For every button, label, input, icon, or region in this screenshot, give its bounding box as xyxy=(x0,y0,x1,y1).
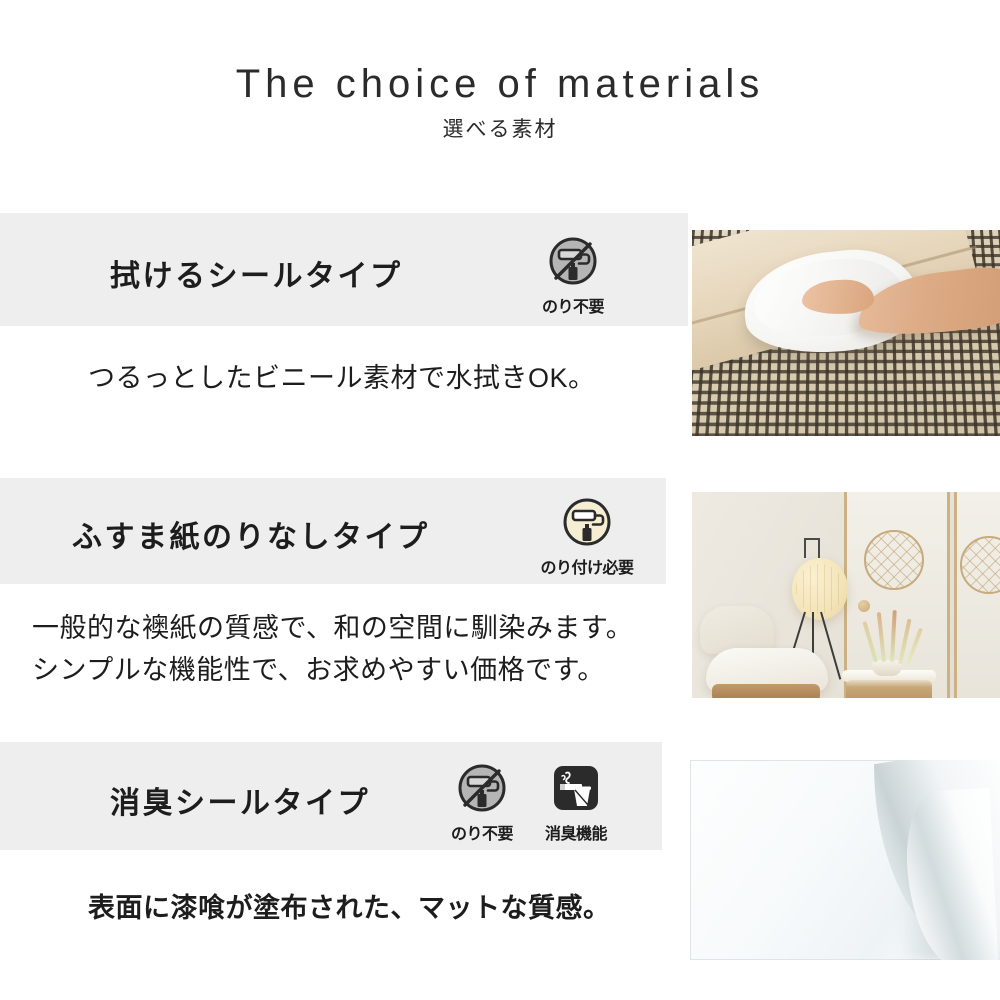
deodorizing-function-icon xyxy=(550,763,602,817)
no-glue-roller-icon xyxy=(456,763,508,817)
fusuma-panel-right xyxy=(954,492,1000,698)
badge-deodorizing: 消臭機能 xyxy=(537,763,615,844)
section-1-body: つるっとしたビニール素材で水拭きOK。 xyxy=(88,358,596,400)
photo-japanese-interior xyxy=(692,492,1000,698)
section-2-title: ふすま紙のりなしタイプ xyxy=(72,512,430,556)
badge-glue-required: のり付け必要 xyxy=(548,497,626,578)
section-2-badges: のり付け必要 xyxy=(548,497,626,578)
page-header: The choice of materials 選べる素材 xyxy=(0,0,1000,200)
badge-glue-required-label: のり付け必要 xyxy=(541,554,634,578)
section-1-badges: のり不要 xyxy=(534,236,612,317)
page-title: The choice of materials xyxy=(0,62,1000,106)
side-table-body xyxy=(846,680,932,698)
no-glue-roller-icon xyxy=(547,236,599,290)
section-2-body: 一般的な襖紙の質感で、和の空間に馴染みます。 シンプルな機能性で、お求めやすい価… xyxy=(32,608,633,692)
badge-no-glue: のり不要 xyxy=(443,763,521,844)
badge-no-glue-label: のり不要 xyxy=(451,820,513,844)
section-1-title: 拭けるシールタイプ xyxy=(110,251,403,295)
photo-white-curled-paper xyxy=(690,760,1000,960)
fusuma-door-knob xyxy=(858,600,870,612)
badge-no-glue-label: のり不要 xyxy=(542,293,604,317)
section-3-badges: のり不要 消臭機能 xyxy=(443,763,615,844)
section-3-title: 消臭シールタイプ xyxy=(110,778,370,822)
fusuma-circle-pattern-center xyxy=(864,530,924,590)
material-choice-page: The choice of materials 選べる素材 拭けるシールタイプ xyxy=(0,0,1000,1000)
photo-wiping-woven-sheet xyxy=(692,230,1000,436)
badge-no-glue: のり不要 xyxy=(534,236,612,317)
page-subtitle: 選べる素材 xyxy=(0,117,1000,142)
lamp-finial xyxy=(804,538,820,558)
armchair-base xyxy=(712,684,820,698)
glue-roller-icon xyxy=(561,497,613,551)
badge-deodorizing-label: 消臭機能 xyxy=(545,820,607,844)
section-3-body: 表面に漆喰が塗布された、マットな質感。 xyxy=(88,888,611,930)
armchair-back xyxy=(700,606,774,654)
paper-lantern-shade xyxy=(792,558,848,620)
